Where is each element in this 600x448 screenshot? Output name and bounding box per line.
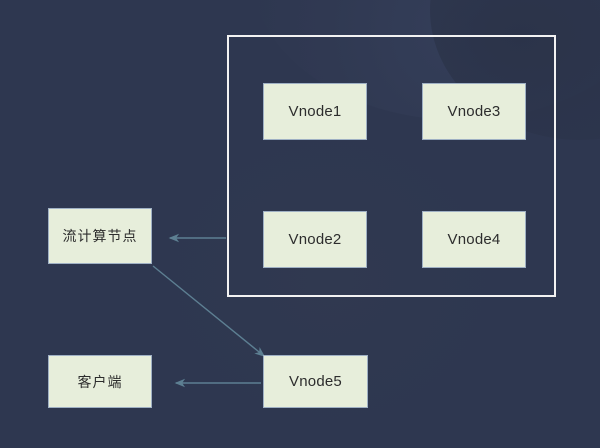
node-vnode4-label: Vnode4 (448, 231, 501, 248)
node-vnode1[interactable]: Vnode1 (263, 83, 367, 140)
node-vnode5-label: Vnode5 (289, 373, 342, 390)
node-stream-compute-label: 流计算节点 (63, 226, 138, 246)
node-vnode5[interactable]: Vnode5 (263, 355, 368, 408)
node-client[interactable]: 客户端 (48, 355, 152, 408)
node-vnode4[interactable]: Vnode4 (422, 211, 526, 268)
node-vnode2-label: Vnode2 (289, 231, 342, 248)
node-vnode2[interactable]: Vnode2 (263, 211, 367, 268)
node-vnode1-label: Vnode1 (289, 103, 342, 120)
node-vnode3[interactable]: Vnode3 (422, 83, 526, 140)
node-client-label: 客户端 (78, 372, 123, 392)
node-vnode3-label: Vnode3 (448, 103, 501, 120)
node-stream-compute[interactable]: 流计算节点 (48, 208, 152, 264)
diagram-canvas: Vnode1 Vnode2 Vnode3 Vnode4 Vnode5 流计算节点… (0, 0, 600, 448)
